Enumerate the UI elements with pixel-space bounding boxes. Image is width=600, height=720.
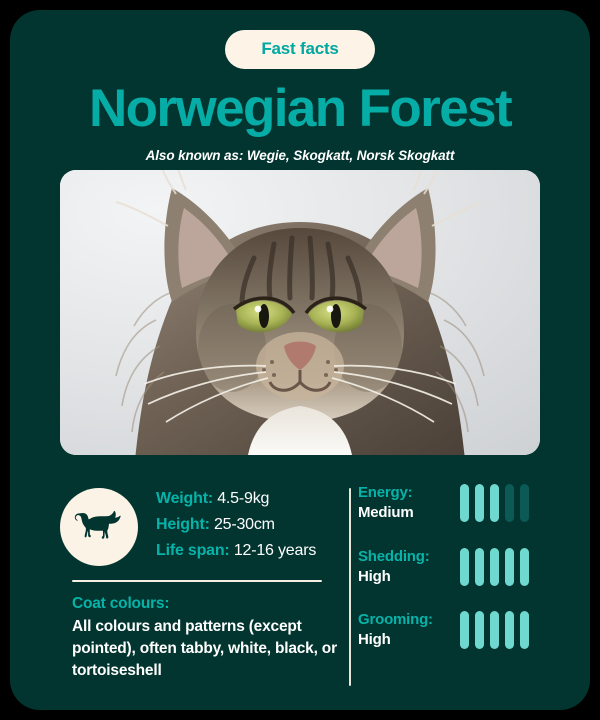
rating-energy-text: Energy: Medium	[358, 483, 460, 524]
rating-bar-filled	[520, 548, 529, 586]
rating-bar-filled	[505, 548, 514, 586]
breed-photo	[60, 170, 540, 455]
rating-shedding-bars	[460, 548, 529, 586]
column-divider	[349, 488, 351, 686]
left-column: Weight: 4.5-9kg Height: 25-30cm Life spa…	[60, 483, 326, 682]
fast-facts-badge: Fast facts	[225, 30, 374, 69]
rating-energy: Energy: Medium	[358, 483, 558, 524]
vital-height-label: Height:	[156, 516, 210, 533]
vitals-row: Weight: 4.5-9kg Height: 25-30cm Life spa…	[60, 483, 326, 566]
vital-height-value: 25-30cm	[214, 516, 275, 533]
rating-energy-label: Energy:	[358, 483, 460, 503]
vital-lifespan-value: 12-16 years	[234, 542, 316, 559]
also-known-as: Also known as: Wegie, Skogkatt, Norsk Sk…	[10, 148, 590, 163]
vital-weight: Weight: 4.5-9kg	[156, 486, 316, 512]
right-column: Energy: Medium Shedding: High Grooming: …	[358, 483, 558, 651]
rating-bar-filled	[475, 611, 484, 649]
badge-row: Fast facts	[10, 30, 590, 69]
vital-weight-value: 4.5-9kg	[217, 490, 269, 507]
rating-bar-filled	[460, 611, 469, 649]
rating-energy-bars	[460, 484, 529, 522]
rating-grooming-bars	[460, 611, 529, 649]
coat-colours-block: Coat colours: All colours and patterns (…	[72, 595, 344, 682]
rating-grooming: Grooming: High	[358, 610, 558, 651]
rating-shedding-text: Shedding: High	[358, 547, 460, 588]
rating-grooming-text: Grooming: High	[358, 610, 460, 651]
rating-energy-value: Medium	[358, 503, 460, 523]
rating-bar-empty	[505, 484, 514, 522]
rating-bar-filled	[520, 611, 529, 649]
rating-bar-filled	[460, 484, 469, 522]
breed-title: Norwegian Forest	[10, 81, 590, 137]
vital-lifespan: Life span: 12-16 years	[156, 538, 316, 564]
rating-bar-filled	[505, 611, 514, 649]
coat-colours-label: Coat colours:	[72, 595, 344, 613]
rating-bar-filled	[475, 548, 484, 586]
rating-bar-filled	[490, 548, 499, 586]
rating-bar-filled	[460, 548, 469, 586]
rating-bar-empty	[520, 484, 529, 522]
cat-portrait-photo	[60, 170, 540, 455]
vital-height: Height: 25-30cm	[156, 512, 316, 538]
cat-silhouette-icon	[71, 507, 127, 547]
rating-shedding-label: Shedding:	[358, 547, 460, 567]
rating-bar-filled	[475, 484, 484, 522]
fast-facts-card: Fast facts Norwegian Forest Also known a…	[10, 10, 590, 710]
vitals-list: Weight: 4.5-9kg Height: 25-30cm Life spa…	[156, 483, 316, 564]
rating-bar-filled	[490, 484, 499, 522]
rating-grooming-value: High	[358, 630, 460, 650]
section-divider	[72, 580, 322, 582]
rating-grooming-label: Grooming:	[358, 610, 460, 630]
rating-bar-filled	[490, 611, 499, 649]
vital-weight-label: Weight:	[156, 490, 213, 507]
vital-lifespan-label: Life span:	[156, 542, 230, 559]
facts-section: Weight: 4.5-9kg Height: 25-30cm Life spa…	[10, 465, 590, 710]
rating-shedding-value: High	[358, 567, 460, 587]
cat-badge	[60, 488, 138, 566]
coat-colours-value: All colours and patterns (except pointed…	[72, 616, 344, 682]
rating-shedding: Shedding: High	[358, 547, 558, 588]
